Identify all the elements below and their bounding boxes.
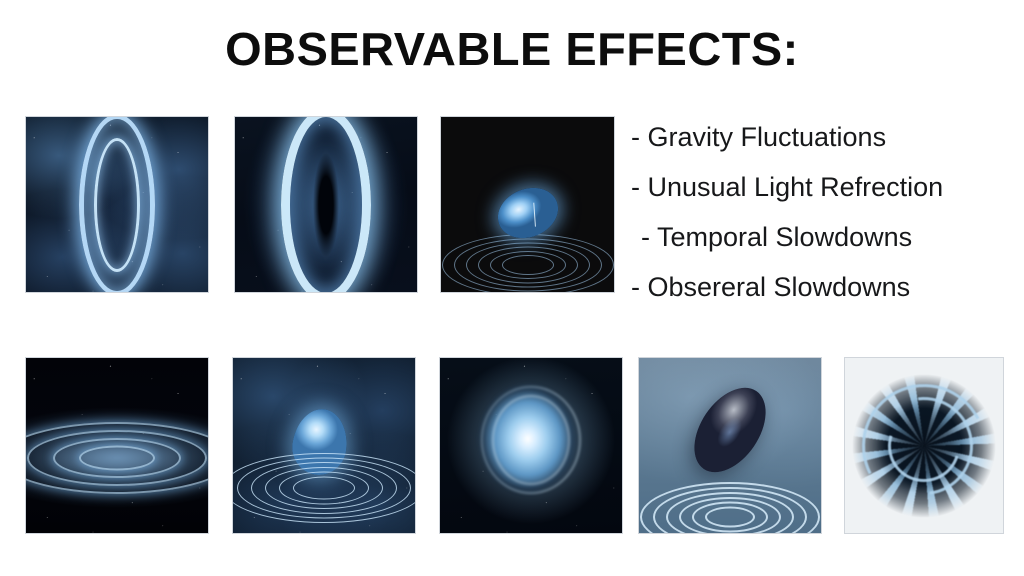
scene-ovoid-with-ripples xyxy=(441,117,614,292)
scene-ovoid-ring-lines xyxy=(233,358,415,533)
thumbnail-vertical-portal-ring[interactable] xyxy=(26,117,208,292)
slide-canvas: OBSERVABLE EFFECTS: xyxy=(0,0,1024,576)
list-item: - Obsereral Slowdowns xyxy=(631,262,1011,312)
page-title: OBSERVABLE EFFECTS: xyxy=(0,26,1024,72)
list-item: - Temporal Slowdowns xyxy=(631,212,1011,262)
bullet-list: - Gravity Fluctuations - Unusual Light R… xyxy=(631,112,1011,312)
thumbnail-accretion-disk[interactable] xyxy=(26,358,208,533)
scene-vertical-portal-ring xyxy=(26,117,208,292)
thumbnail-oblong-over-ripples[interactable] xyxy=(639,358,821,533)
thumbnail-ovoid-ring-lines[interactable] xyxy=(233,358,415,533)
ripple-rings xyxy=(443,235,613,292)
scene-plasma-nebula xyxy=(440,358,622,533)
thumbnail-plasma-nebula[interactable] xyxy=(440,358,622,533)
thumbnail-spiral-vortex[interactable] xyxy=(845,358,1003,533)
portal-inner-ring xyxy=(94,138,140,272)
concentric-ring-lines xyxy=(233,454,415,522)
scene-spiral-vortex xyxy=(845,358,1003,533)
nebula-inner-arc xyxy=(492,395,570,485)
list-item: - Unusual Light Refrection xyxy=(631,162,1011,212)
scene-bright-ellipse-portal xyxy=(235,117,417,292)
scene-oblong-over-ripples xyxy=(639,358,821,533)
thumbnail-bright-ellipse-portal[interactable] xyxy=(235,117,417,292)
ripple-rings xyxy=(642,484,818,533)
list-item: - Gravity Fluctuations xyxy=(631,112,1011,162)
portal-core xyxy=(313,153,339,257)
thumbnail-ovoid-with-ripples[interactable] xyxy=(441,117,614,292)
scene-accretion-disk xyxy=(26,358,208,533)
disk-rings xyxy=(26,423,208,493)
